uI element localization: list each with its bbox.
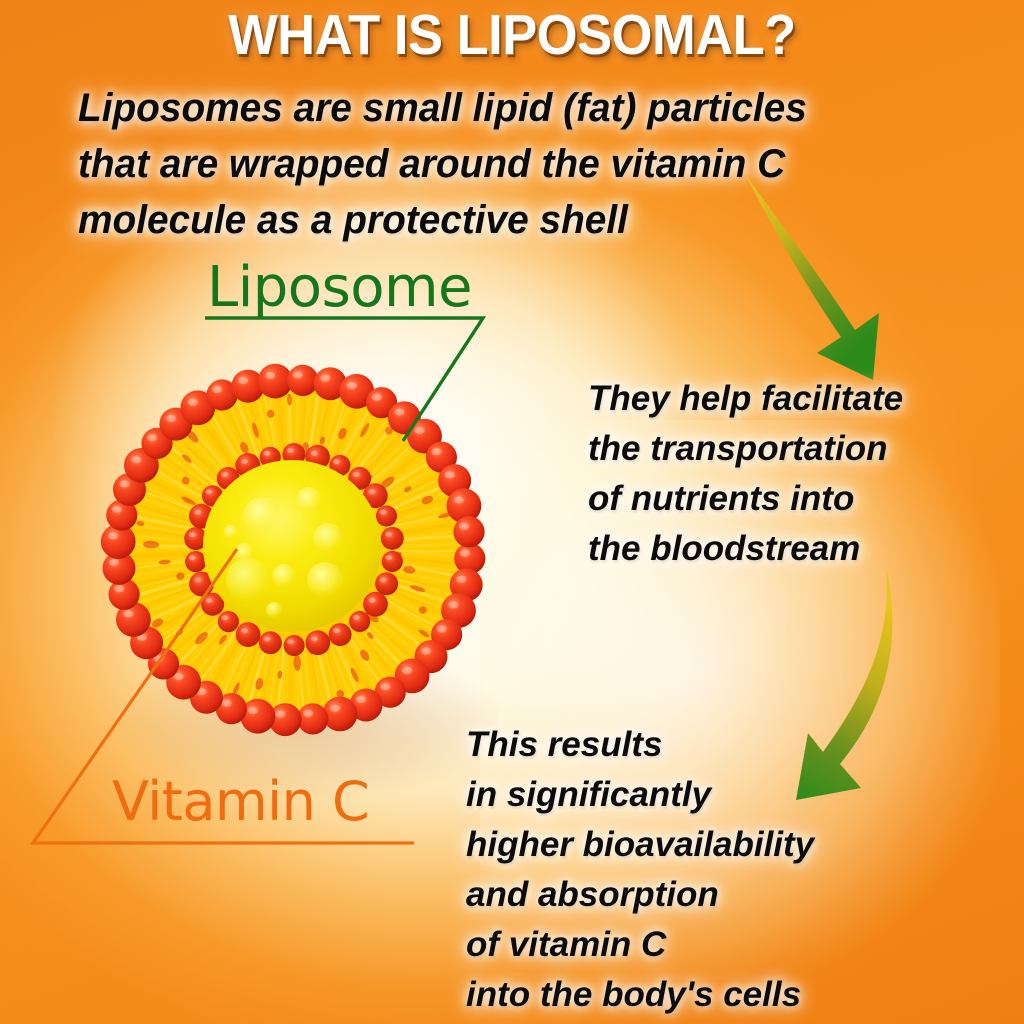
middle-paragraph: They help facilitate the transportation …	[588, 374, 1018, 574]
label-liposome: Liposome	[207, 255, 472, 320]
bottom-paragraph: This results in significantly higher bio…	[466, 720, 966, 1020]
vitamin-c-core	[203, 460, 381, 632]
intro-paragraph: Liposomes are small lipid (fat) particle…	[78, 80, 951, 248]
liposome-illustration	[88, 348, 500, 752]
label-vitamin-c: Vitamin C	[112, 770, 369, 833]
liposome-diagram-svg	[88, 348, 500, 752]
infographic-poster: WHAT IS LIPOSOMAL? Liposomes are small l…	[0, 0, 1024, 1024]
page-title: WHAT IS LIPOSOMAL?	[41, 2, 983, 68]
